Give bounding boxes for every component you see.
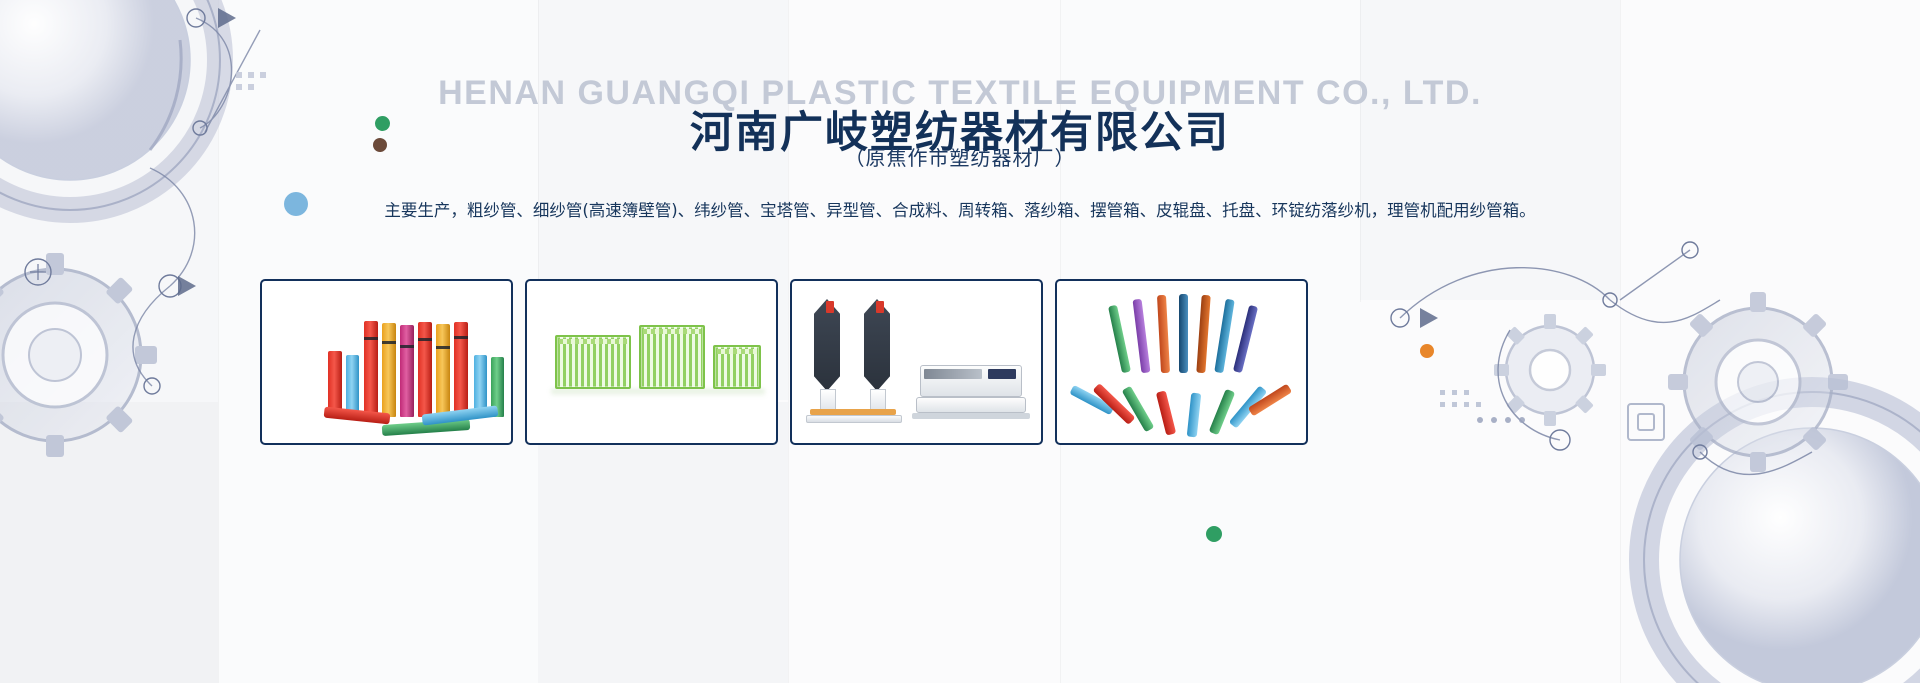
hero-banner: HENAN GUANGQI PLASTIC TEXTILE EQUIPMENT … — [0, 0, 1920, 683]
product-card-row — [260, 279, 1308, 445]
bg-panel-bottom — [0, 402, 218, 683]
tube-lying-red — [324, 407, 391, 425]
page-subtitle: （原焦作市塑纺器材厂） — [0, 142, 1920, 171]
dot-green-bottom — [1206, 526, 1222, 542]
crates-image — [527, 281, 776, 443]
company-description: 主要生产，粗纱管、细纱管(高速簿壁管)、纬纱管、宝塔管、异型管、合成料、周转箱、… — [345, 194, 1575, 228]
tubes-image — [262, 281, 511, 443]
product-card-colored-cone-bobbins[interactable] — [1055, 279, 1308, 445]
product-card-doffing-machine-equipment[interactable] — [790, 279, 1043, 445]
dot-orange-right — [1420, 344, 1434, 358]
cones-image — [1057, 281, 1306, 443]
product-card-plastic-turnover-crates[interactable] — [525, 279, 778, 445]
machine-image — [792, 281, 1041, 443]
dot-blue-left — [284, 192, 308, 216]
product-card-roving-and-spinning-tubes[interactable] — [260, 279, 513, 445]
